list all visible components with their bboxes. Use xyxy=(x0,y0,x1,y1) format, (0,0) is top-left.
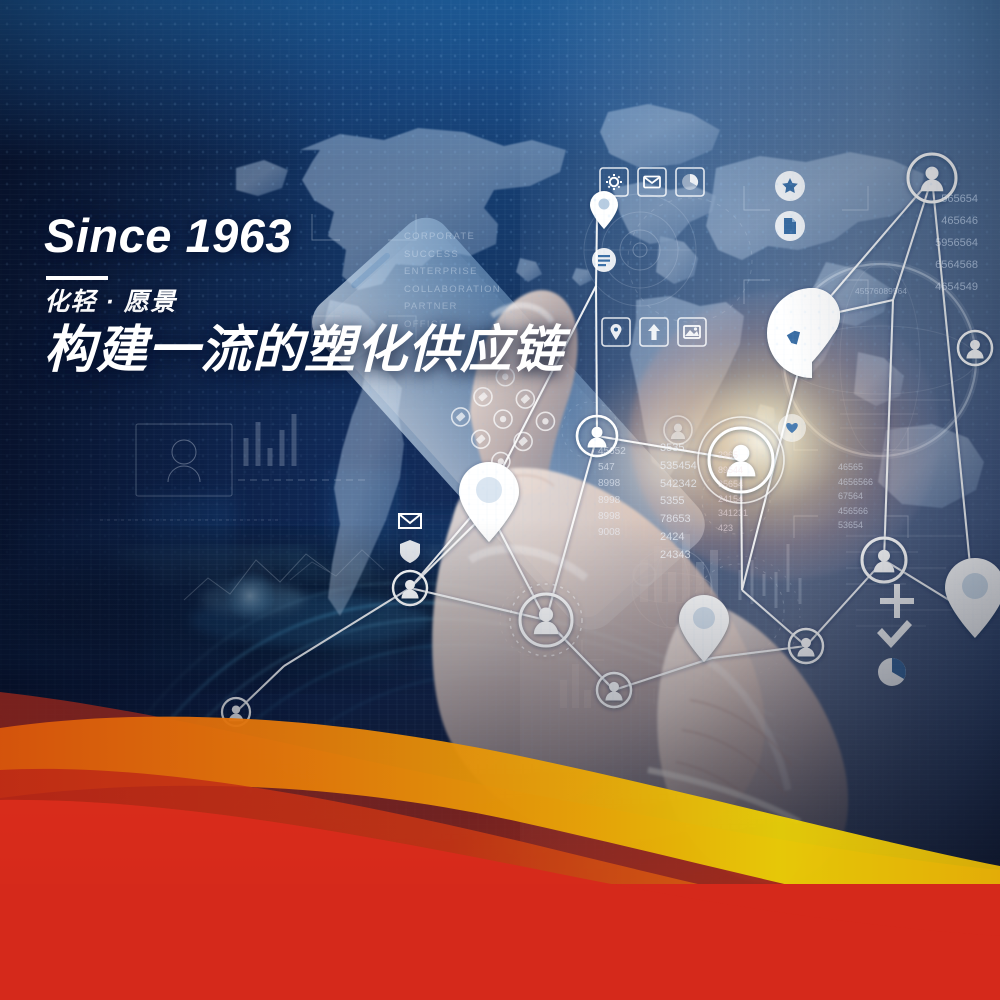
bottom-wave-graphic xyxy=(0,670,1000,1000)
check-icon xyxy=(877,620,912,648)
number-cell: 535454 xyxy=(660,458,697,476)
number-cell: 341231 xyxy=(718,506,748,521)
number-cell: 423 xyxy=(718,521,748,536)
number-cell: 565654 xyxy=(935,188,978,210)
mail-icon xyxy=(399,514,421,528)
data-numbers-column-c: 2965 89544 35654 24154 341231 423 xyxy=(718,448,748,535)
number-cell: 35654 xyxy=(718,477,748,492)
number-cell: 2424 xyxy=(660,529,697,547)
image-icon xyxy=(684,326,700,338)
tag-icon xyxy=(787,329,805,347)
number-cell: 2965 xyxy=(718,448,748,463)
pie-chart-icon xyxy=(682,174,698,190)
number-cell: 465646 xyxy=(935,210,978,232)
number-cell: 4654549 xyxy=(935,276,978,298)
pin-icon-tile xyxy=(602,318,630,346)
number-cell: 5355 xyxy=(660,493,697,511)
number-cell: 547 xyxy=(598,460,626,476)
number-cell: 67564 xyxy=(838,489,873,504)
data-numbers-column-a: 45652 547 8998 8998 8998 9008 xyxy=(598,444,626,541)
data-numbers-right: 565654 465646 5956564 6564568 4654549 xyxy=(935,188,978,298)
data-numbers-column-d: 46565 4656566 67564 456566 53654 xyxy=(838,460,873,533)
data-numbers-column-e: 45576089564 xyxy=(855,285,907,299)
upload-icon-tile xyxy=(640,318,668,346)
number-cell: 45576089564 xyxy=(855,285,907,299)
plus-icon xyxy=(880,584,914,618)
gear-icon-tile xyxy=(600,168,628,196)
number-cell: 542342 xyxy=(660,476,697,494)
background-top-strip xyxy=(0,0,1000,160)
mail-icon-tile xyxy=(638,168,666,196)
map-pin-icon xyxy=(767,288,840,378)
mail-icon xyxy=(644,177,660,188)
shield-icon xyxy=(400,540,420,563)
number-cell: 24343 xyxy=(660,547,697,565)
data-numbers-column-b: 3535 535454 542342 5355 78653 2424 24343 xyxy=(660,440,697,565)
number-cell: 5956564 xyxy=(935,232,978,254)
number-cell: 24154 xyxy=(718,492,748,507)
number-cell: 9008 xyxy=(598,525,626,541)
number-cell: 89544 xyxy=(718,463,748,478)
document-icon xyxy=(784,218,796,234)
headline-copy-block: Since 1963 化轻 · 愿景 构建一流的塑化供应链 xyxy=(44,212,604,378)
gear-icon xyxy=(606,174,622,190)
number-cell: 8998 xyxy=(598,476,626,492)
hero-banner: CORPORATE SUCCESS ENTERPRISE COLLABORATI… xyxy=(0,0,1000,1000)
map-pin-small-icon xyxy=(611,324,622,340)
number-cell: 46565 xyxy=(838,460,873,475)
number-cell: 456566 xyxy=(838,504,873,519)
divider-rule xyxy=(46,276,108,280)
number-cell: 53654 xyxy=(838,518,873,533)
number-cell: 8998 xyxy=(598,509,626,525)
pie-chart-icon-tile xyxy=(676,168,704,196)
since-year-text: Since 1963 xyxy=(44,212,604,259)
number-cell: 8998 xyxy=(598,493,626,509)
heart-icon xyxy=(786,423,798,433)
number-cell: 78653 xyxy=(660,511,697,529)
number-cell: 3535 xyxy=(660,440,697,458)
subtitle-text: 化轻 · 愿景 xyxy=(44,287,604,317)
image-icon-tile xyxy=(678,318,706,346)
page-title: 构建一流的塑化供应链 xyxy=(44,321,604,378)
upload-arrow-icon xyxy=(648,324,660,340)
number-cell: 45652 xyxy=(598,444,626,460)
number-cell: 4656566 xyxy=(838,475,873,490)
number-cell: 6564568 xyxy=(935,254,978,276)
